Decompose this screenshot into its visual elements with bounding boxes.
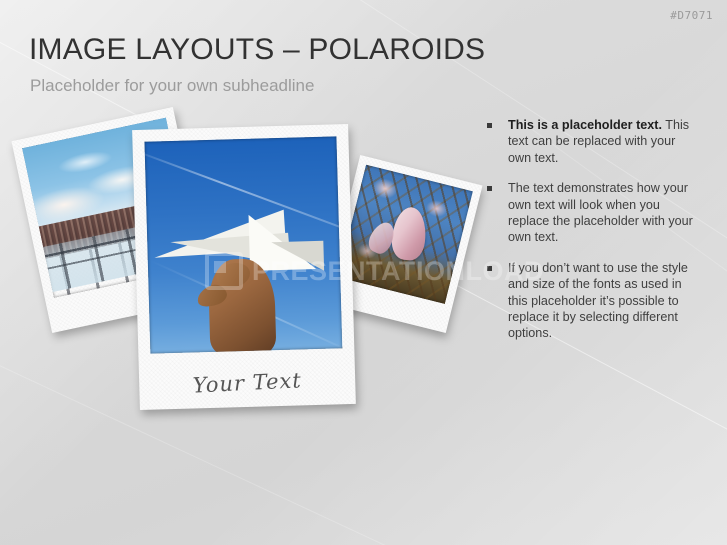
magnolia-blossom-shape bbox=[390, 206, 428, 263]
bullet-text: This is a placeholder text. This text ca… bbox=[508, 117, 699, 166]
polaroid-center-photo bbox=[144, 136, 342, 353]
polaroid-caption[interactable]: Your Text bbox=[139, 366, 356, 401]
page-title: IMAGE LAYOUTS – POLAROIDS bbox=[29, 33, 485, 67]
bullet-lead: This is a placeholder text. bbox=[508, 118, 662, 132]
bullet-square-icon bbox=[487, 266, 492, 271]
bullet-list: This is a placeholder text. This text ca… bbox=[487, 117, 699, 356]
bullet-text: If you don’t want to use the style and s… bbox=[508, 260, 699, 342]
polaroid-right-photo bbox=[338, 165, 473, 304]
list-item[interactable]: If you don’t want to use the style and s… bbox=[487, 260, 699, 342]
list-item[interactable]: The text demonstrates how your own text … bbox=[487, 180, 699, 246]
list-item[interactable]: This is a placeholder text. This text ca… bbox=[487, 117, 699, 166]
page-subtitle: Placeholder for your own subheadline bbox=[30, 76, 314, 96]
bullet-square-icon bbox=[487, 186, 492, 191]
slide-canvas: #D7071 IMAGE LAYOUTS – POLAROIDS Placeho… bbox=[0, 0, 727, 545]
document-id: #D7071 bbox=[670, 9, 713, 22]
bullet-square-icon bbox=[487, 123, 492, 128]
polaroid-center[interactable]: Your Text bbox=[132, 124, 356, 410]
bullet-text: The text demonstrates how your own text … bbox=[508, 180, 699, 246]
